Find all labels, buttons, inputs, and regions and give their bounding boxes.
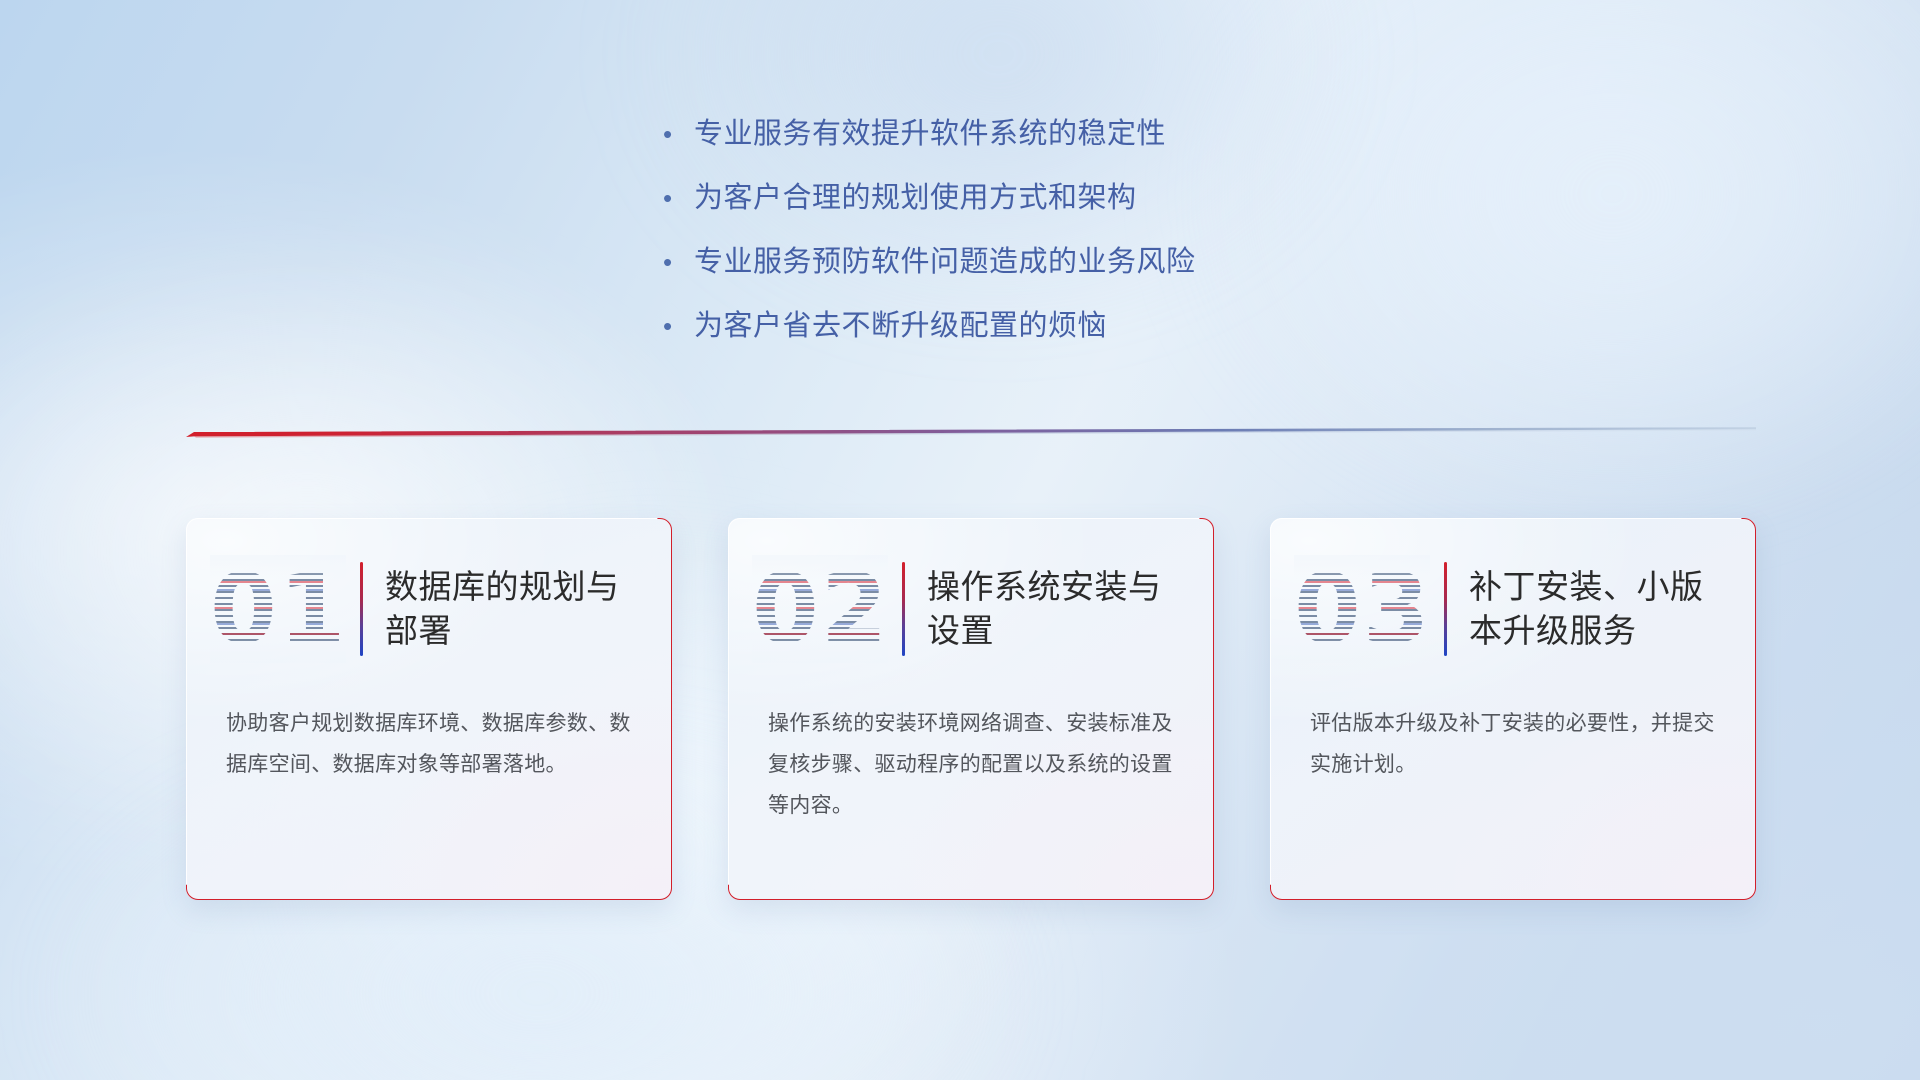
bullet-text: 为客户合理的规划使用方式和架构 xyxy=(694,174,1137,216)
card-number-blue-overlay: 02 xyxy=(752,555,888,663)
service-card-group: 01 01 01 数据库的规划与部署 协助客户规划数据库环境、数据库参数、数据库… xyxy=(186,518,1756,900)
card-title: 补丁安装、小版本升级服务 xyxy=(1469,565,1719,653)
bullet-dot-icon: • xyxy=(660,121,694,147)
list-item: • 为客户合理的规划使用方式和架构 xyxy=(660,174,1540,238)
card-number-blue-overlay: 03 xyxy=(1294,555,1430,663)
card-body-text: 评估版本升级及补丁安装的必要性，并提交实施计划。 xyxy=(1310,704,1722,786)
card-body-text: 协助客户规划数据库环境、数据库参数、数据库空间、数据库对象等部署落地。 xyxy=(226,704,638,786)
card-title-rule xyxy=(360,562,363,656)
list-item: • 为客户省去不断升级配置的烦恼 xyxy=(660,302,1540,366)
card-title-rule xyxy=(902,562,905,656)
list-item: • 专业服务预防软件问题造成的业务风险 xyxy=(660,238,1540,302)
section-divider xyxy=(186,424,1756,444)
card-title-rule xyxy=(1444,562,1447,656)
card-header: 02 02 02 操作系统安装与设置 xyxy=(728,544,1214,674)
bullet-dot-icon: • xyxy=(660,249,694,275)
bullet-dot-icon: • xyxy=(660,313,694,339)
card-header: 01 01 01 数据库的规划与部署 xyxy=(186,544,672,674)
service-card-01[interactable]: 01 01 01 数据库的规划与部署 协助客户规划数据库环境、数据库参数、数据库… xyxy=(186,518,672,900)
bullet-text: 专业服务预防软件问题造成的业务风险 xyxy=(694,238,1196,280)
service-card-02[interactable]: 02 02 02 操作系统安装与设置 操作系统的安装环境网络调查、安装标准及复核… xyxy=(728,518,1214,900)
card-header: 03 03 03 补丁安装、小版本升级服务 xyxy=(1270,544,1756,674)
benefit-bullet-list: • 专业服务有效提升软件系统的稳定性 • 为客户合理的规划使用方式和架构 • 专… xyxy=(660,110,1540,366)
section-divider-shape xyxy=(186,424,1756,444)
card-body-text: 操作系统的安装环境网络调查、安装标准及复核步骤、驱动程序的配置以及系统的设置等内… xyxy=(768,704,1180,827)
card-number-blue-overlay: 01 xyxy=(210,555,346,663)
card-number-badge: 01 01 01 xyxy=(210,555,346,663)
card-number-badge: 02 02 02 xyxy=(752,555,888,663)
card-title: 操作系统安装与设置 xyxy=(927,565,1177,653)
bullet-text: 为客户省去不断升级配置的烦恼 xyxy=(694,302,1107,344)
bullet-text: 专业服务有效提升软件系统的稳定性 xyxy=(694,110,1166,152)
card-number-badge: 03 03 03 xyxy=(1294,555,1430,663)
card-title: 数据库的规划与部署 xyxy=(385,565,635,653)
bullet-dot-icon: • xyxy=(660,185,694,211)
list-item: • 专业服务有效提升软件系统的稳定性 xyxy=(660,110,1540,174)
service-card-03[interactable]: 03 03 03 补丁安装、小版本升级服务 评估版本升级及补丁安装的必要性，并提… xyxy=(1270,518,1756,900)
